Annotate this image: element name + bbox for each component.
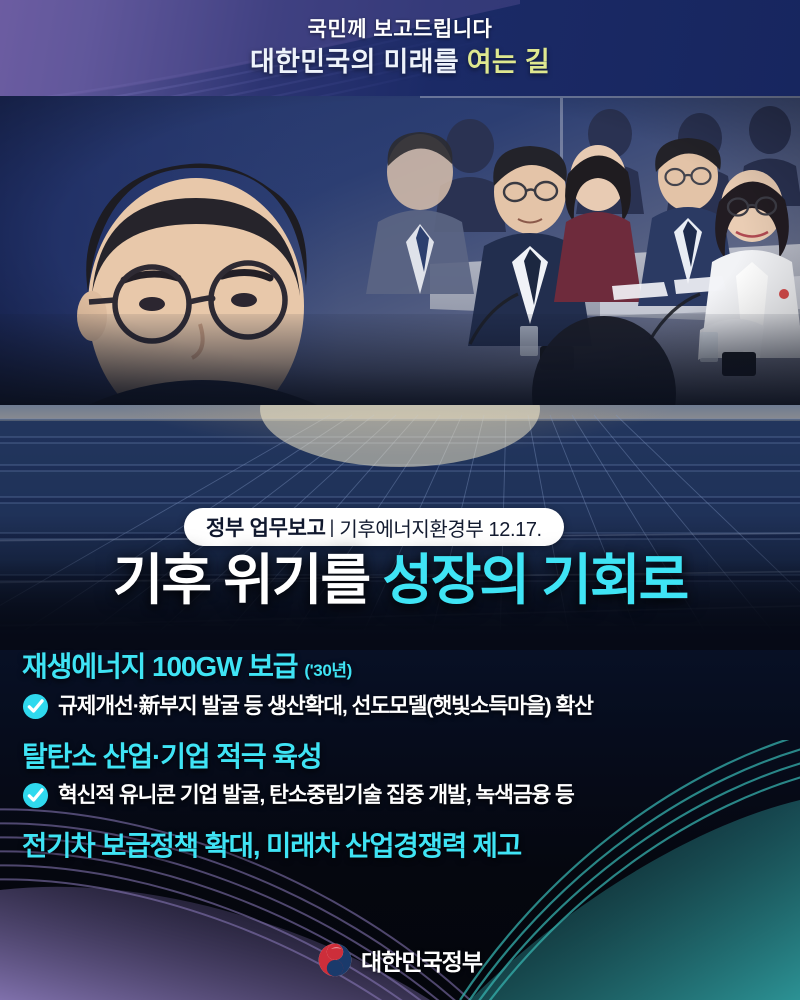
policy-group: 전기차 보급정책 확대, 미래차 산업경쟁력 제고 [22,829,778,862]
policy-group-detail: 혁신적 유니콘 기업 발굴, 탄소중립기술 집중 개발, 녹색금융 등 [58,782,574,809]
header-line-2-accent: 여는 길 [467,47,550,77]
policy-card: 국민께 보고드립니다 대한민국의 미래를 여는 길 [0,0,800,1000]
policy-groups: 재생에너지 100GW 보급 ('30년) 규제개선·新부지 발굴 등 생산확대… [0,650,800,882]
report-badge: 정부 업무보고 | 기후에너지환경부 12.17. [184,508,564,546]
policy-group-title-row: 탈탄소 산업·기업 적극 육성 [22,740,778,774]
policy-group-title: 탈탄소 산업·기업 적극 육성 [22,740,322,774]
header-line-1: 국민께 보고드립니다 [308,18,493,42]
header-line-2-white: 대한민국의 미래를 [250,47,467,77]
policy-group-detail: 규제개선·新부지 발굴 등 생산확대, 선도모델(햇빛소득마을) 확산 [58,693,593,720]
policy-group-title: 재생에너지 100GW 보급 [22,650,297,684]
government-name: 대한민국정부 [361,943,482,977]
badge-separator: | [330,517,335,538]
headline-accent: 성장의 기회로 [382,549,687,611]
meeting-photo-illustration [0,94,800,409]
header-text-block: 국민께 보고드립니다 대한민국의 미래를 여는 길 [0,0,800,96]
policy-group: 재생에너지 100GW 보급 ('30년) 규제개선·新부지 발굴 등 생산확대… [22,650,778,720]
meeting-photo [0,94,800,409]
policy-group: 탈탄소 산업·기업 적극 육성 혁신적 유니콘 기업 발굴, 탄소중립기술 집중… [22,740,778,810]
policy-group-detail-row: 규제개선·新부지 발굴 등 생산확대, 선도모델(햇빛소득마을) 확산 [22,693,778,720]
taegeuk-government-emblem-icon [318,943,352,977]
headline-white: 기후 위기를 [113,549,383,611]
policy-group-title-row: 재생에너지 100GW 보급 ('30년) [22,650,778,684]
footer-branding: 대한민국정부 [0,935,800,985]
policy-group-note: ('30년) [304,661,352,681]
header-band: 국민께 보고드립니다 대한민국의 미래를 여는 길 [0,0,800,96]
check-circle-icon [22,693,49,720]
page-title: 기후 위기를 성장의 기회로 [0,552,800,610]
header-line-2: 대한민국의 미래를 여는 길 [250,47,550,78]
policy-group-detail-row: 혁신적 유니콘 기업 발굴, 탄소중립기술 집중 개발, 녹색금융 등 [22,782,778,809]
badge-ministry-date: 기후에너지환경부 12.17. [339,513,541,542]
check-circle-icon [22,782,49,809]
policy-group-title-row: 전기차 보급정책 확대, 미래차 산업경쟁력 제고 [22,829,778,862]
badge-strong-text: 정부 업무보고 [206,512,326,542]
policy-group-title: 전기차 보급정책 확대, 미래차 산업경쟁력 제고 [22,829,521,862]
